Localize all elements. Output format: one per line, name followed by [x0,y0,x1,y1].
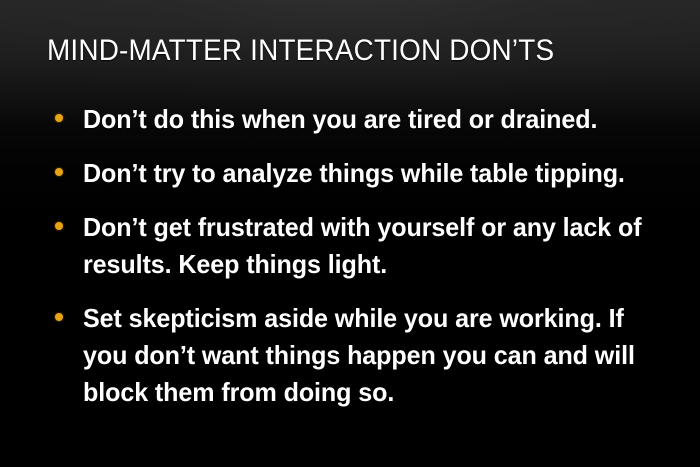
slide-title: Mind-Matter Interaction Don’ts [47,33,614,69]
bullet-text: Don’t get frustrated with yourself or an… [83,209,643,283]
bullet-dot-icon [55,313,63,321]
bullet-list-item: Don’t get frustrated with yourself or an… [47,209,657,283]
bullet-list-item: Set skepticism aside while you are worki… [47,300,657,411]
bullet-dot-icon [55,168,63,176]
bullet-dot-icon [55,222,63,230]
bullet-text: Don’t do this when you are tired or drai… [83,101,662,138]
bullet-dot-icon [55,114,63,122]
bullet-text: Set skepticism aside while you are worki… [83,300,650,411]
bullet-text: Don’t try to analyze things while table … [83,155,662,192]
presentation-slide: Mind-Matter Interaction Don’ts Don’t do … [0,0,700,467]
bullet-list-item: Don’t do this when you are tired or drai… [47,101,657,138]
bullet-list-item: Don’t try to analyze things while table … [47,155,657,192]
bullet-list: Don’t do this when you are tired or drai… [47,101,657,411]
slide-content: Mind-Matter Interaction Don’ts Don’t do … [0,0,700,467]
